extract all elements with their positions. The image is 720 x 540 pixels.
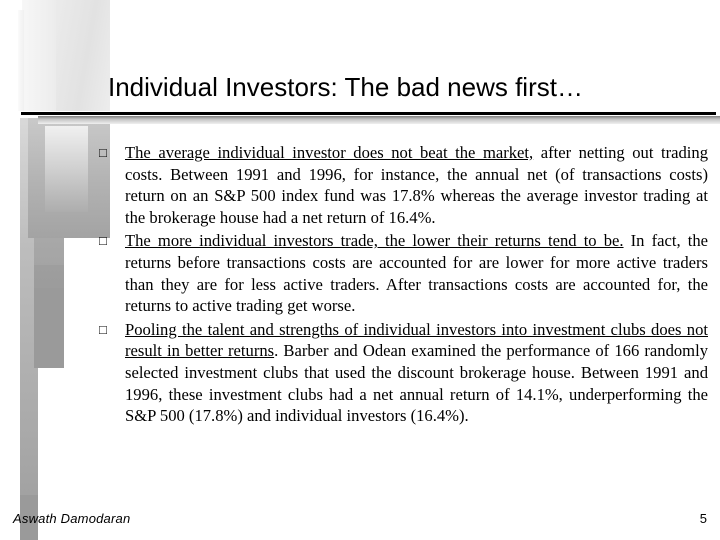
decorative-top-block (22, 0, 110, 111)
square-bullet-icon: □ (96, 142, 125, 164)
page-title: Individual Investors: The bad news first… (108, 70, 708, 104)
decorative-top-sliver (18, 10, 24, 111)
bullet-list: □ The average individual investor does n… (96, 142, 708, 429)
decorative-mid-light-block (45, 126, 88, 212)
decorative-left-strip (20, 118, 38, 540)
list-item-text: The average individual investor does not… (125, 142, 708, 228)
footer-author: Aswath Damodaran (13, 511, 130, 527)
decorative-top-block-inner (22, 0, 56, 111)
footer-page-number: 5 (700, 511, 707, 527)
list-item: □ Pooling the talent and strengths of in… (96, 319, 708, 427)
title-divider-shadow (38, 116, 720, 124)
list-item-text: Pooling the talent and strengths of indi… (125, 319, 708, 427)
slide-canvas: Individual Investors: The bad news first… (0, 0, 720, 540)
list-item-text: The more individual investors trade, the… (125, 230, 708, 316)
list-item-lead: The more individual investors trade, the… (125, 231, 624, 250)
decorative-step-four (34, 288, 64, 368)
decorative-step-three (34, 265, 64, 328)
list-item-lead: The average individual investor does not… (125, 143, 533, 162)
decorative-step-two (34, 238, 64, 328)
title-divider-rule (21, 112, 716, 115)
square-bullet-icon: □ (96, 319, 125, 341)
square-bullet-icon: □ (96, 230, 125, 252)
list-item: □ The more individual investors trade, t… (96, 230, 708, 316)
list-item: □ The average individual investor does n… (96, 142, 708, 228)
